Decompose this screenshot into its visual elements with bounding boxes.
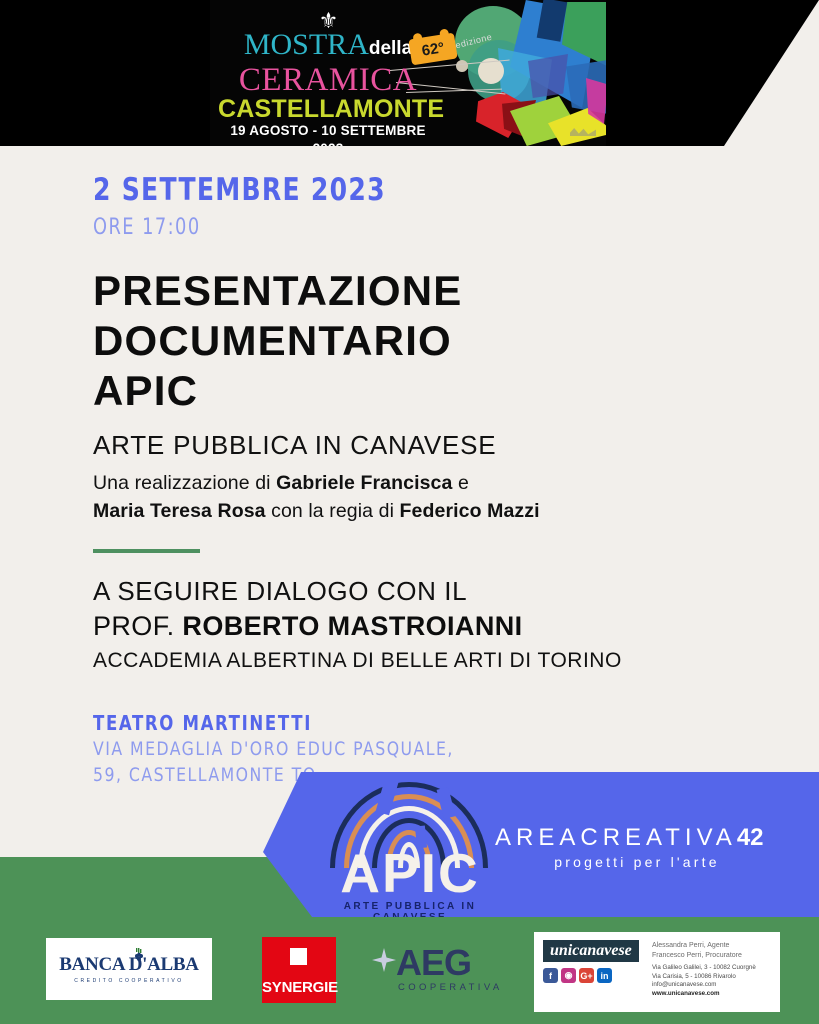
linkedin-icon[interactable]: in [597, 968, 612, 983]
venue-address-line-1: VIA MEDAGLIA D'ORO EDUC PASQUALE, [93, 736, 724, 762]
apic-logo: APIC ARTE PUBBLICA IN CANAVESE [310, 778, 510, 913]
event-subtitle: ARTE PUBBLICA IN CANAVESE [93, 429, 779, 461]
unicanavese-email[interactable]: info@unicanavese.com [652, 981, 774, 990]
masthead-ceramica: CERAMICA [218, 64, 438, 96]
facebook-icon[interactable]: f [543, 968, 558, 983]
sponsor-unicanavese-card: unicanavese f ◉ G+ in Alessandra Perri, … [534, 932, 780, 1012]
masthead-della: della [369, 38, 412, 59]
areacreativa-tagline: progetti per l'arte [495, 852, 795, 872]
unicanavese-wordmark: unicanavese [543, 940, 639, 962]
unicanavese-website[interactable]: www.unicanavese.com [652, 990, 774, 999]
unicanavese-contact-block: Alessandra Perri, Agente Francesco Perri… [652, 941, 774, 998]
green-divider-rule [93, 549, 200, 553]
unicanavese-agent-1: Alessandra Perri, Agente [652, 941, 774, 951]
banca-subtitle: CREDITO COOPERATIVO [74, 978, 184, 984]
banca-wordmark: BANCA D'ALBA [59, 955, 198, 975]
credits-name-2: Maria Teresa Rosa [93, 500, 266, 522]
masthead-mostra-line: MOSTRAdella [218, 30, 438, 64]
dialog-intro: A SEGUIRE DIALOGO CON IL [93, 575, 779, 608]
synergie-wordmark: SYNERGIE [262, 979, 336, 996]
art-shape-violet [528, 54, 568, 98]
credits-middle: con la regia di [266, 500, 400, 522]
sponsor-aeg: AEG COOPERATIVA [370, 944, 520, 1000]
apic-banner: APIC ARTE PUBBLICA IN CANAVESE AREACREAT… [255, 772, 819, 917]
venue-name: TEATRO MARTINETTI [93, 710, 724, 736]
poster-root: { "masthead": { "pot_icon": "ceramic-pot… [0, 0, 819, 1024]
headline-line-2: DOCUMENTARIO [93, 316, 779, 366]
synergie-square-icon [290, 948, 307, 965]
aeg-subtitle: COOPERATIVA [370, 982, 520, 993]
agent-2-role: Procuratore [703, 952, 742, 959]
sparkle-star-icon [372, 948, 396, 972]
google-plus-icon[interactable]: G+ [579, 968, 594, 983]
unicanavese-address-2: Via Carisia, 5 - 10086 Rivarolo [652, 973, 774, 982]
unicanavese-agent-2: Francesco Perri, Procuratore [652, 951, 774, 961]
masthead-mostra: MOSTRA [244, 28, 369, 61]
credits-name-3: Federico Mazzi [400, 500, 540, 522]
dialog-speaker: PROF. ROBERTO MASTROIANNI [93, 608, 779, 644]
headline-line-3: APIC [93, 366, 779, 416]
sponsor-banca-dalba: BANCA D'ALBA CREDITO COOPERATIVO [46, 938, 212, 1000]
event-time: ORE 17:00 [93, 215, 710, 240]
unicanavese-addresses: Via Galileo Galilei, 3 - 10082 Cuorgnè V… [652, 964, 774, 998]
dialog-affiliation: ACCADEMIA ALBERTINA DI BELLE ARTI DI TOR… [93, 646, 779, 676]
sponsor-row: BANCA D'ALBA CREDITO COOPERATIVO SYNERGI… [0, 930, 819, 1024]
event-headline: PRESENTAZIONE DOCUMENTARIO APIC [93, 266, 779, 416]
masthead-castellamonte: CASTELLAMONTE [218, 96, 438, 122]
areacreativa-number: 42 [737, 824, 764, 851]
areacreativa-name: AREACREATIVA [495, 824, 737, 851]
event-date: 2 SETTEMBRE 2023 [93, 172, 710, 208]
sponsor-synergie: SYNERGIE [262, 937, 336, 1003]
instagram-icon[interactable]: ◉ [561, 968, 576, 983]
credits-line-1: Una realizzazione di Gabriele Francisca … [93, 469, 779, 497]
credits-suffix: e [452, 472, 468, 494]
agent-1-name: Alessandra Perri, [652, 942, 706, 949]
agent-2-name: Francesco Perri, [652, 952, 703, 959]
masthead-dates: 19 AGOSTO - 10 SETTEMBRE 2023 [218, 122, 438, 146]
event-credits: Una realizzazione di Gabriele Francisca … [93, 469, 779, 525]
poster-content: 2 SETTEMBRE 2023 ORE 17:00 PRESENTAZIONE… [0, 146, 819, 788]
credits-line-2: Maria Teresa Rosa con la regia di Federi… [93, 497, 779, 525]
dialog-speaker-name: ROBERTO MASTROIANNI [182, 611, 522, 641]
masthead-band: ⚜ MOSTRAdella CERAMICA CASTELLAMONTE 19 … [0, 0, 819, 146]
dialog-title-prefix: PROF. [93, 611, 182, 641]
areacreativa42-logo: AREACREATIVA42 progetti per l'arte [495, 824, 795, 872]
grape-vine-icon [132, 948, 146, 964]
unicanavese-address-1: Via Galileo Galilei, 3 - 10082 Cuorgnè [652, 964, 774, 973]
masthead-title-block: ⚜ MOSTRAdella CERAMICA CASTELLAMONTE 19 … [218, 12, 438, 146]
art-shape-cream-dot-small [456, 60, 468, 72]
areacreativa-name-row: AREACREATIVA42 [495, 824, 795, 852]
credits-name-1: Gabriele Francisca [276, 472, 452, 494]
agent-1-role: Agente [706, 942, 730, 949]
headline-line-1: PRESENTAZIONE [93, 266, 779, 316]
credits-prefix: Una realizzazione di [93, 472, 276, 494]
apic-wordmark: APIC [310, 846, 510, 901]
